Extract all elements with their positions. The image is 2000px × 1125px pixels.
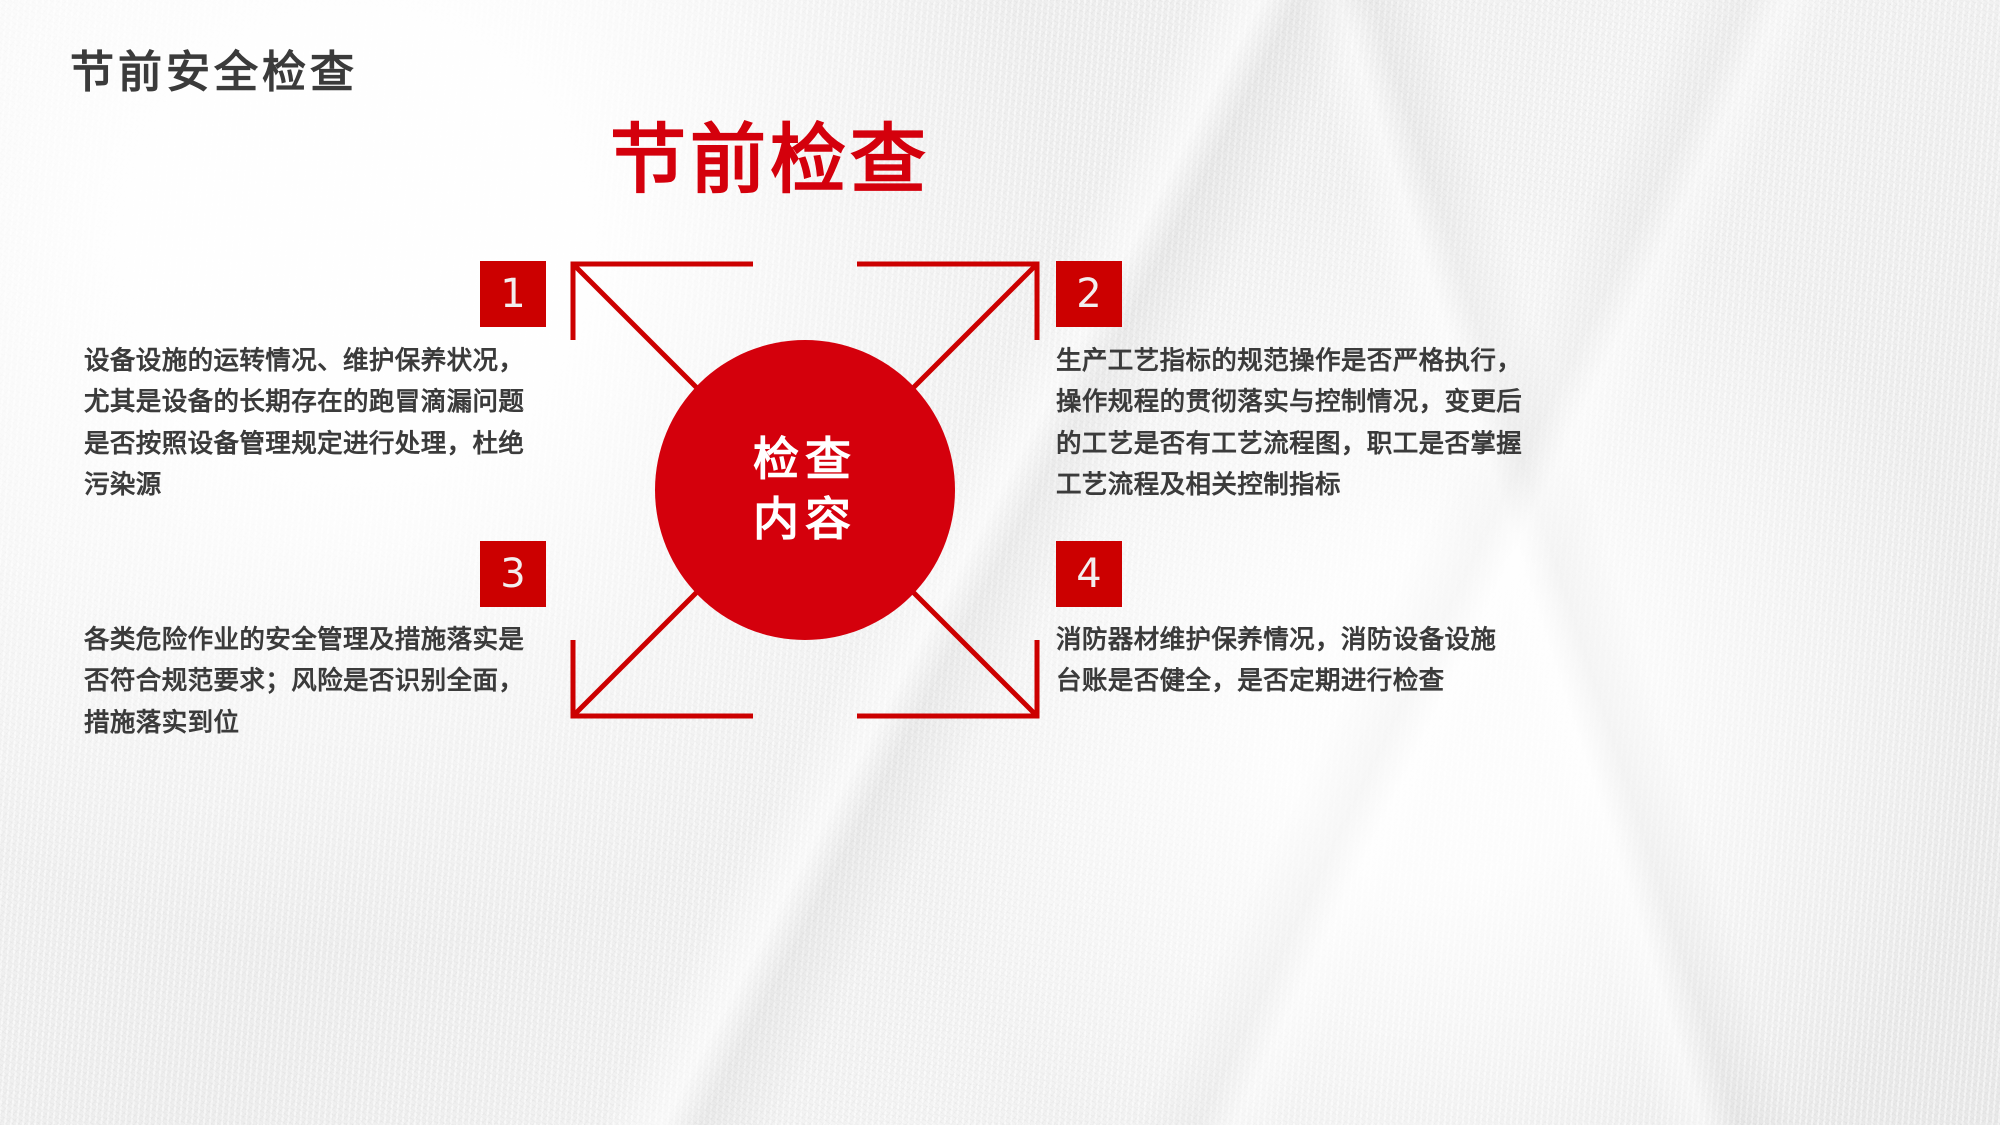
number-badge-3: 3	[480, 541, 546, 607]
item-text-4: 消防器材维护保养情况，消防设备设施台账是否健全，是否定期进行检查	[1056, 620, 1516, 703]
item-text-2: 生产工艺指标的规范操作是否严格执行，操作规程的贯彻落实与控制情况，变更后的工艺是…	[1056, 341, 1526, 506]
header-title: 节前安全检查	[70, 36, 358, 100]
slide-canvas: 节前安全检查 节前检查	[0, 0, 2000, 1125]
item-text-3: 各类危险作业的安全管理及措施落实是否符合规范要求；风险是否识别全面，措施落实到位	[84, 620, 544, 744]
number-badge-4: 4	[1056, 541, 1122, 607]
center-circle-line-1: 检查	[753, 430, 857, 490]
page-title: 节前检查	[0, 98, 1540, 208]
number-badge-1: 1	[480, 261, 546, 327]
item-text-1: 设备设施的运转情况、维护保养状况，尤其是设备的长期存在的跑冒滴漏问题是否按照设备…	[84, 341, 544, 506]
number-badge-2: 2	[1056, 261, 1122, 327]
center-circle-line-2: 内容	[753, 490, 857, 550]
center-circle: 检查 内容	[655, 340, 955, 640]
